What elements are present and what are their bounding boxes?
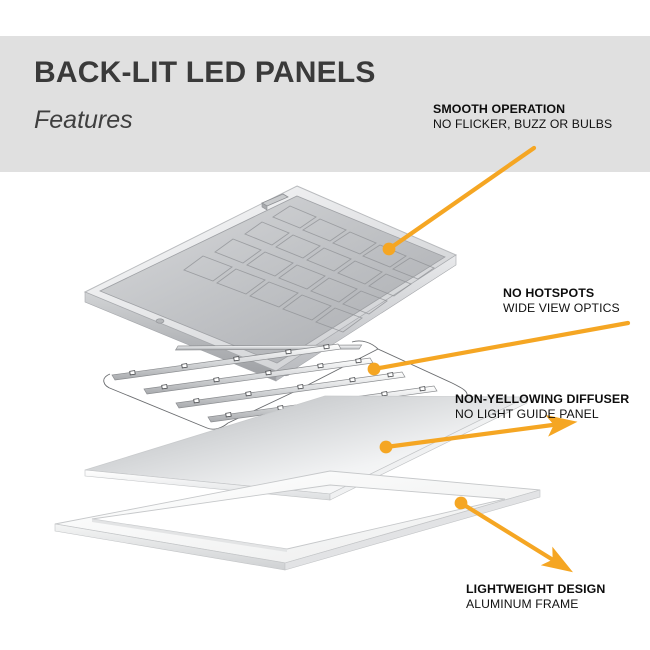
callout-lightweight-design: LIGHTWEIGHT DESIGN ALUMINUM FRAME [466, 582, 605, 612]
callout-subtitle: WIDE VIEW OPTICS [503, 301, 620, 316]
callout-leader-lines [0, 0, 650, 650]
callout-non-yellowing-diffuser: NON-YELLOWING DIFFUSER NO LIGHT GUIDE PA… [455, 392, 629, 422]
callout-title: NO HOTSPOTS [503, 286, 620, 301]
callout-subtitle: ALUMINUM FRAME [466, 597, 605, 612]
callout-subtitle: NO FLICKER, BUZZ OR BULBS [433, 117, 612, 132]
leader-dot [455, 497, 468, 510]
infographic-canvas: BACK-LIT LED PANELS Features [0, 0, 650, 650]
callout-no-hotspots: NO HOTSPOTS WIDE VIEW OPTICS [503, 286, 620, 316]
leader-line-non-yellowing-diffuser [380, 424, 560, 453]
callout-smooth-operation: SMOOTH OPERATION NO FLICKER, BUZZ OR BUL… [433, 102, 612, 132]
leader-line-no-hotspots [368, 323, 628, 375]
leader-dot [380, 441, 393, 454]
leader-dot [368, 363, 381, 376]
callout-title: NON-YELLOWING DIFFUSER [455, 392, 629, 407]
leader-dot [383, 243, 396, 256]
callout-title: LIGHTWEIGHT DESIGN [466, 582, 605, 597]
callout-subtitle: NO LIGHT GUIDE PANEL [455, 407, 629, 422]
leader-line-smooth-operation [383, 148, 534, 255]
leader-line-lightweight-design [455, 497, 558, 563]
callout-title: SMOOTH OPERATION [433, 102, 612, 117]
